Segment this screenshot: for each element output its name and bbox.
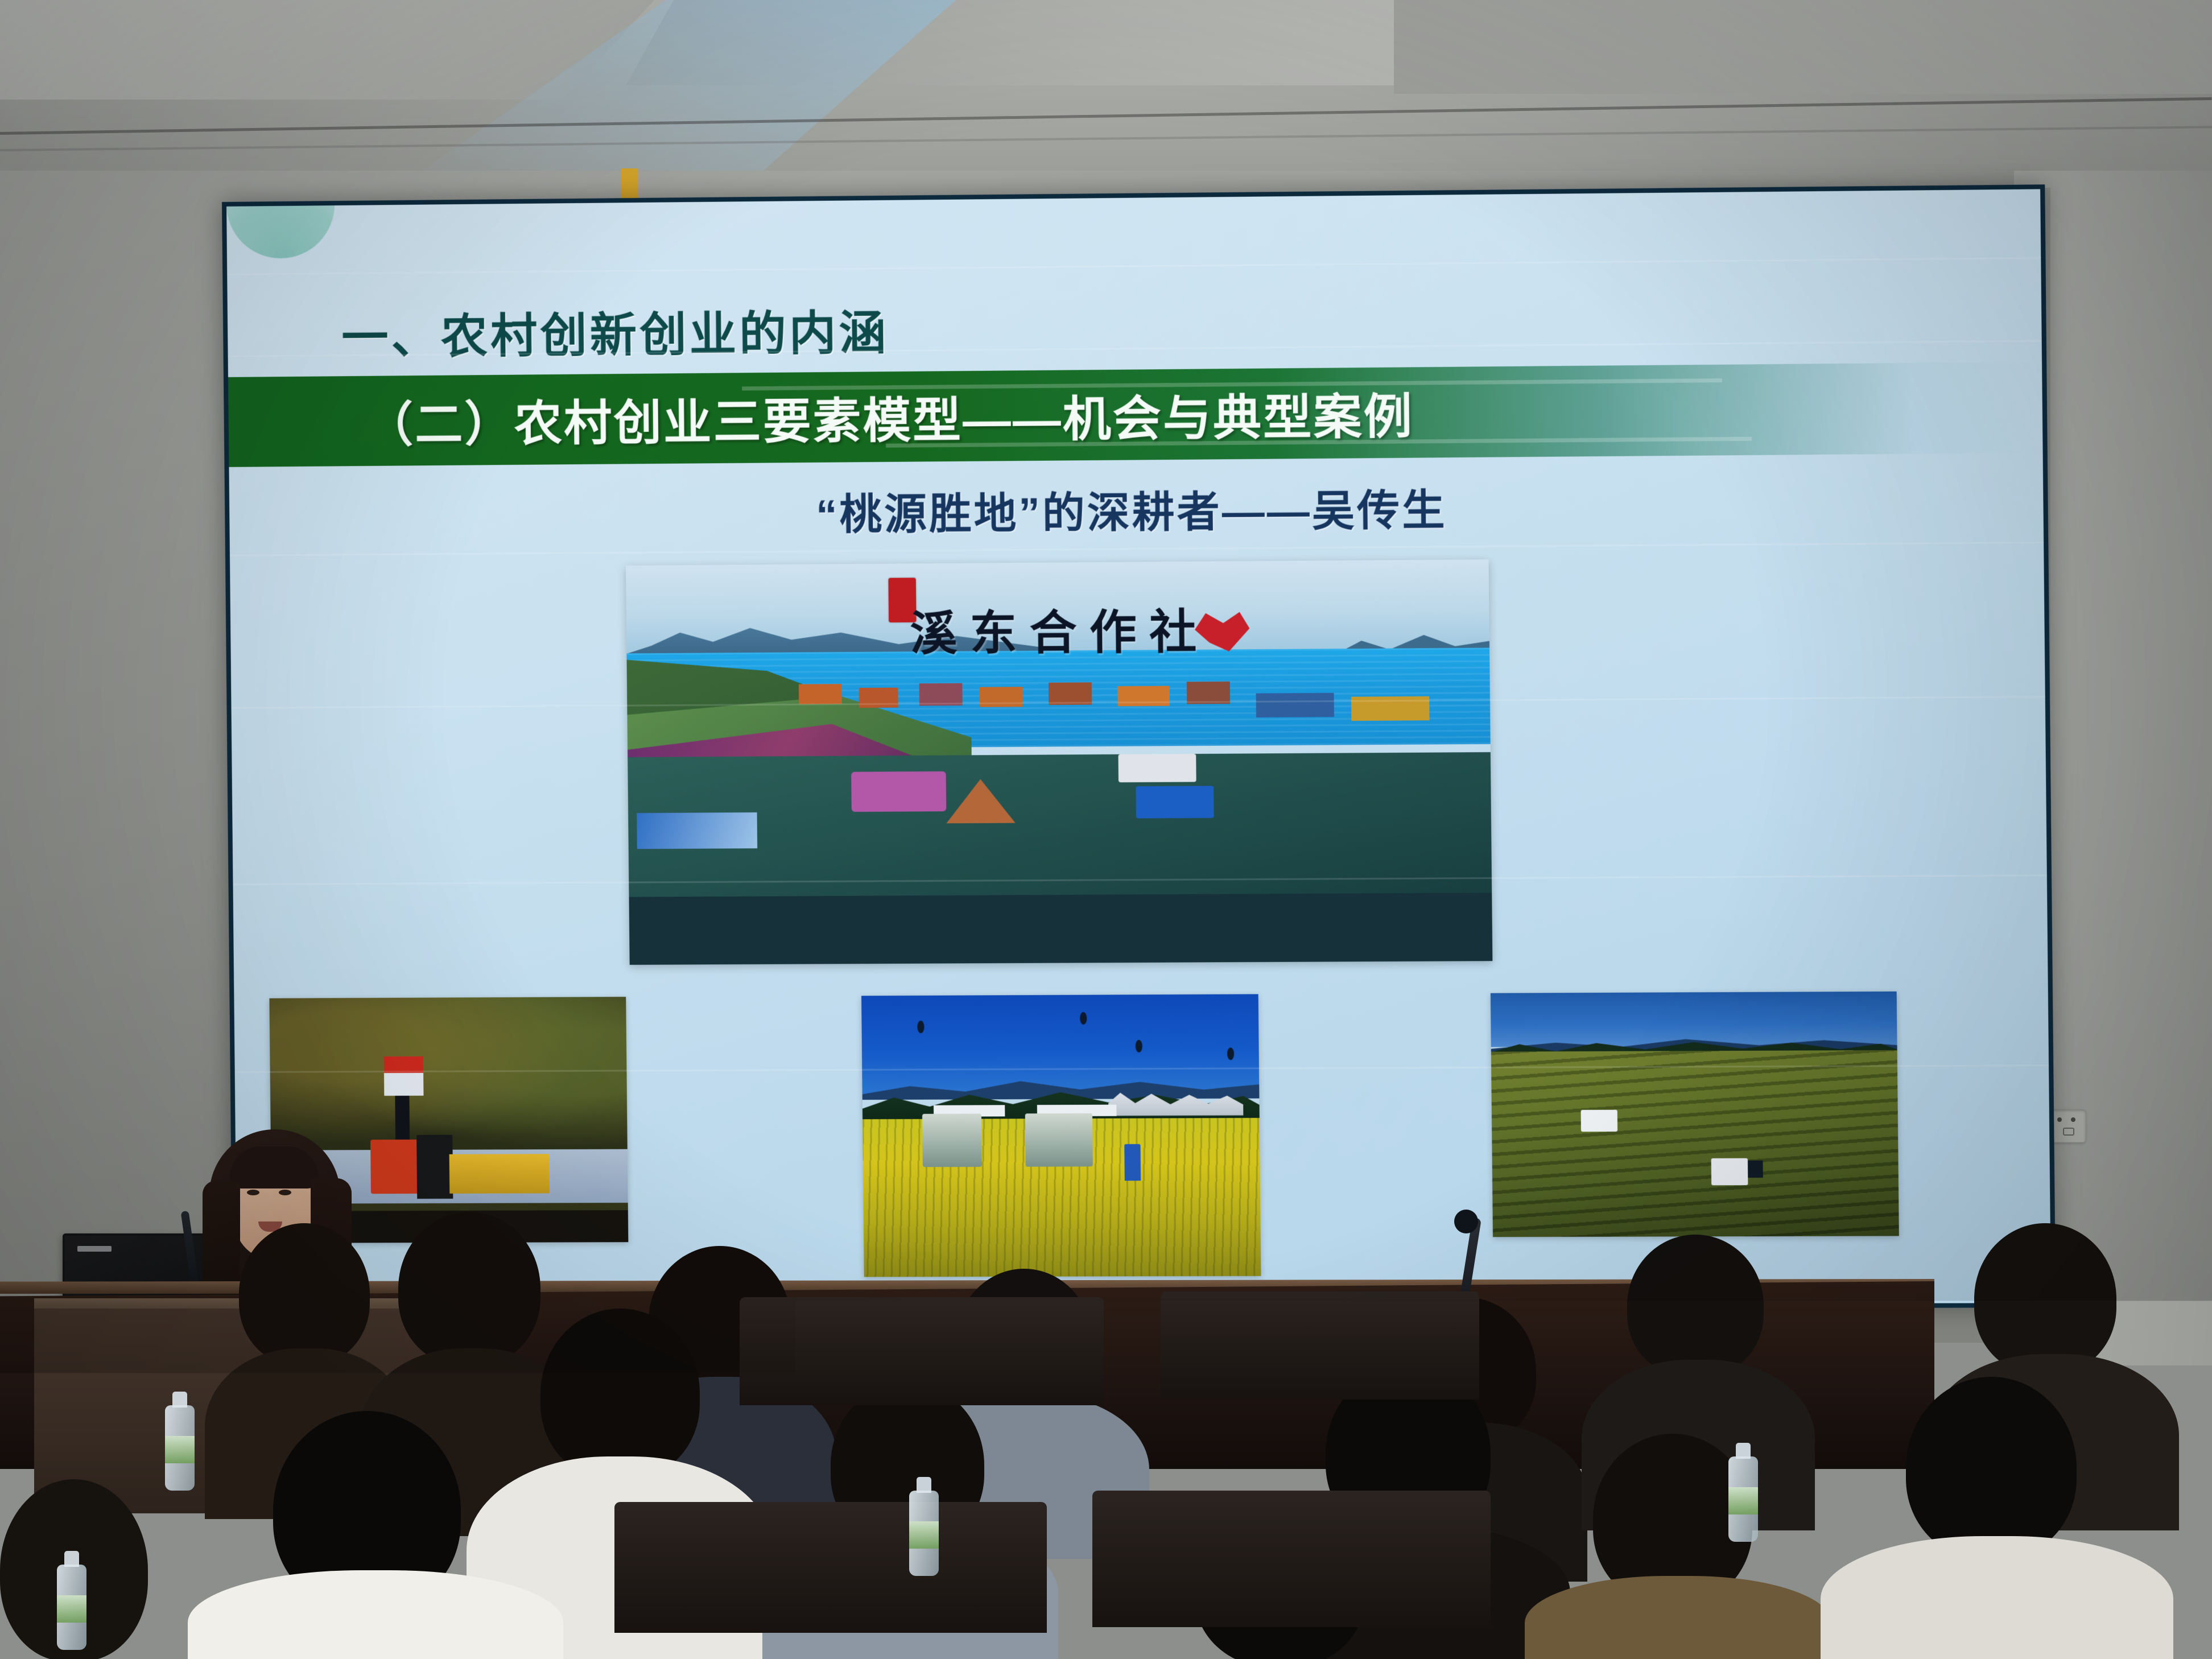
thumb3-harvester [1711,1158,1748,1185]
slide-heading-3: “桃源胜地”的深耕者——吴传生 [229,471,2044,546]
thumb1-yellow-load [449,1154,549,1193]
ceiling [0,0,2212,188]
presenter-eye [279,1190,291,1195]
bottle-label [57,1595,86,1623]
thumb2-harvester [1025,1113,1093,1166]
thumb1-red-machine [370,1140,421,1194]
scanline [227,257,2041,275]
slide-heading-1: 一、农村创新创业的内涵 [341,295,889,368]
chair-back [1161,1291,1479,1400]
photo-stall [1351,696,1430,721]
slide-canvas: 一、农村创新创业的内涵 （二）农村创业三要素模型——机会与典型案例 “桃源胜地”… [226,189,2051,1307]
slide-thumbnail-3 [1491,992,1899,1237]
photo-boat-row [637,812,757,849]
desk-row [1092,1491,1491,1627]
thumb1-banner [384,1057,424,1096]
photo-blue-booth [1136,786,1214,818]
outlet-slot [2063,1128,2074,1136]
microphone-head-icon [1454,1210,1478,1233]
audience-head [1974,1223,2116,1374]
thumb3-paddy-field [1491,1050,1899,1237]
lecture-hall-photo: 一、农村创新创业的内涵 （二）农村创业三要素模型——机会与典型案例 “桃源胜地”… [0,0,2212,1659]
thumb3-harvester [1581,1110,1618,1132]
bottle-label [909,1521,939,1549]
laptop-brand-logo-icon [77,1246,112,1252]
thumb2-bird-icon [1136,1039,1142,1052]
audience-head [1906,1377,2077,1559]
ceiling-beam-right [1394,0,2212,94]
photo-event-ground [628,752,1492,917]
photo-foreground-fence [629,893,1493,965]
desk-row [614,1502,1047,1633]
audience-head [398,1212,540,1365]
projection-screen: 一、农村创新创业的内涵 （二）农村创业三要素模型——机会与典型案例 “桃源胜地”… [222,184,2056,1311]
thumb2-bird-icon [1227,1048,1234,1060]
slide-main-photo: 溪东合作社 [626,559,1492,965]
audience-head [1627,1235,1764,1377]
slide-thumbnail-2 [861,994,1261,1277]
ceiling-beam-center [626,0,1422,85]
thumb3-sky [1491,992,1897,1047]
audience-shoulders [188,1570,563,1659]
water-bottle[interactable] [165,1405,195,1491]
bottle-label [1728,1487,1758,1514]
photo-stall [919,683,963,705]
slide-heading-2: （二）农村创业三要素模型——机会与典型案例 [228,367,1414,467]
photo-stall [980,687,1023,707]
photo-stall [1117,686,1169,707]
audience-head [239,1223,370,1365]
audience-head [540,1309,700,1479]
thumb2-sky [861,994,1259,1094]
thumb2-bird-icon [917,1021,924,1033]
thumb2-worker [1125,1144,1141,1181]
photo-calligraphy-caption: 溪东合作社 [910,593,1210,663]
photo-stall [799,684,842,704]
photo-stall [1049,682,1092,704]
water-bottle[interactable] [1859,1479,1889,1565]
thumb2-bird-icon [1080,1012,1087,1024]
photo-pink-marquee [851,771,946,812]
photo-stall [1256,693,1334,717]
water-bottle[interactable] [909,1491,939,1576]
photo-stall [1187,682,1230,704]
ceiling-beam-left [0,0,654,100]
water-bottle[interactable] [1728,1456,1758,1542]
chair-back [740,1297,1104,1405]
photo-stall [859,688,898,708]
photo-white-tent [1119,754,1196,782]
water-bottle[interactable] [57,1565,86,1650]
thumb1-dark-machine [416,1135,453,1199]
audience-shoulders [1525,1576,1832,1659]
presenter-fringe [230,1146,319,1188]
thumb2-harvester [922,1113,981,1167]
bottle-label [165,1436,195,1463]
bottle-label [1859,1510,1889,1537]
presenter-eye [247,1190,259,1195]
